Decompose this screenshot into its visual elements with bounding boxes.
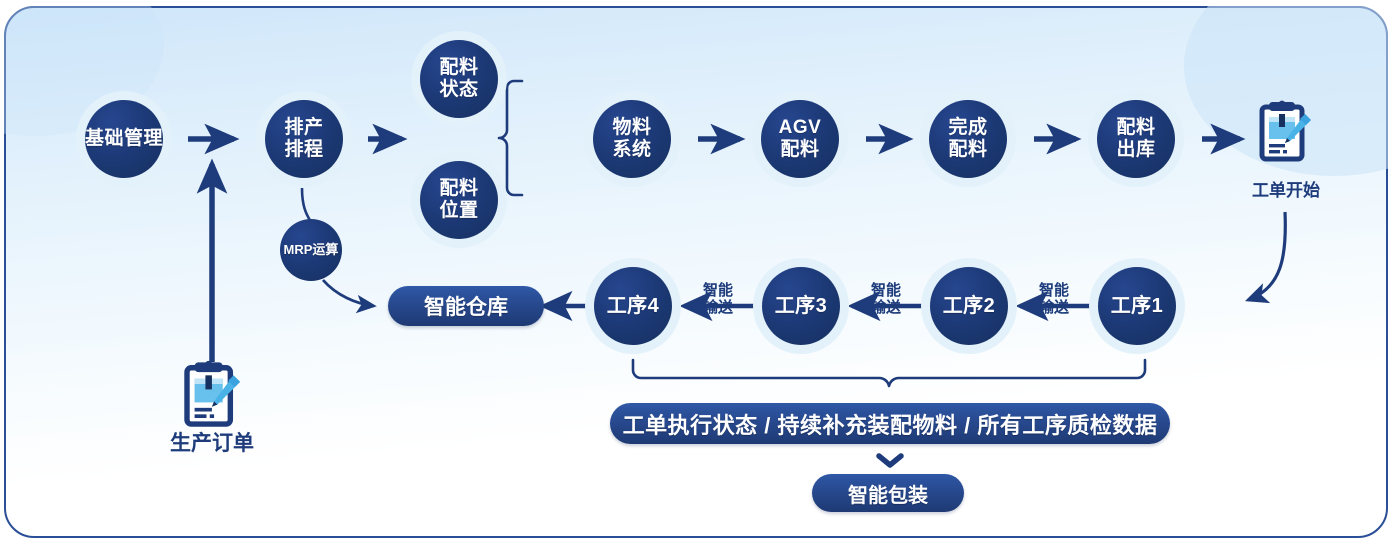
- node-material-status-core: 配料 状态: [420, 40, 498, 118]
- clipboard-pen-icon-production-order: [182, 358, 244, 436]
- node-process-1-label: 工序1: [1111, 295, 1164, 318]
- node-agv-feeding-line-1: AGV: [779, 117, 822, 139]
- node-finish-feeding[interactable]: 完成 配料: [920, 91, 1016, 187]
- node-process-2-label: 工序2: [943, 295, 996, 318]
- node-material-location-line-1: 配料: [439, 178, 478, 200]
- node-process-2[interactable]: 工序2: [921, 258, 1017, 354]
- node-material-location-line-2: 位置: [439, 200, 478, 222]
- node-basic-management-line-1: 基础管理: [85, 128, 163, 150]
- node-process-3[interactable]: 工序3: [753, 258, 849, 354]
- node-finish-feeding-line-2: 配料: [948, 139, 987, 161]
- label-conveyor-2-1-line-1: 智能: [1024, 283, 1084, 300]
- label-conveyor-4-3-line-2: 输送: [688, 300, 748, 317]
- caption-work-order-start: 工单开始: [1238, 176, 1334, 201]
- node-process-3-label: 工序3: [775, 295, 828, 318]
- node-process-4-core: 工序4: [594, 267, 672, 345]
- node-process-1[interactable]: 工序1: [1089, 258, 1185, 354]
- node-production-scheduling-core: 排产 排程: [265, 100, 343, 178]
- node-material-status-line-1: 配料: [439, 57, 478, 79]
- node-process-2-core: 工序2: [930, 267, 1008, 345]
- node-material-system-core: 物料 系统: [593, 100, 671, 178]
- pill-work-order-status-bar-label: 工单执行状态 / 持续补充装配物料 / 所有工序质检数据: [623, 408, 1158, 440]
- node-material-outbound[interactable]: 配料 出库: [1088, 91, 1184, 187]
- node-material-outbound-line-1: 配料: [1116, 117, 1155, 139]
- pill-smart-warehouse-label: 智能仓库: [424, 291, 508, 321]
- node-material-system[interactable]: 物料 系统: [584, 91, 680, 187]
- node-mrp-calculation-core: MRP运算: [280, 219, 342, 281]
- node-production-scheduling-line-2: 排程: [284, 139, 323, 161]
- node-process-1-core: 工序1: [1098, 267, 1176, 345]
- pill-work-order-status-bar[interactable]: 工单执行状态 / 持续补充装配物料 / 所有工序质检数据: [610, 403, 1170, 444]
- node-agv-feeding[interactable]: AGV 配料: [752, 91, 848, 187]
- caption-production-order: 生产订单: [152, 427, 272, 457]
- node-basic-management[interactable]: 基础管理: [76, 91, 172, 187]
- node-material-status[interactable]: 配料 状态: [411, 31, 507, 127]
- node-finish-feeding-core: 完成 配料: [929, 100, 1007, 178]
- label-conveyor-3-2: 智能 输送: [856, 283, 916, 316]
- node-agv-feeding-core: AGV 配料: [761, 100, 839, 178]
- node-agv-feeding-line-2: 配料: [780, 139, 819, 161]
- pill-smart-warehouse[interactable]: 智能仓库: [388, 286, 544, 326]
- chevron-down-icon: [876, 452, 904, 470]
- node-material-location[interactable]: 配料 位置: [411, 152, 507, 248]
- node-mrp-calculation[interactable]: MRP运算: [280, 219, 342, 281]
- pill-smart-packaging-label: 智能包装: [848, 479, 928, 508]
- node-production-scheduling[interactable]: 排产 排程: [256, 91, 352, 187]
- node-finish-feeding-line-1: 完成: [948, 117, 987, 139]
- diagram-canvas: 基础管理 排产 排程 配料 状态 配料 位置 物料 系统 AGV 配料: [0, 0, 1400, 550]
- node-material-outbound-line-2: 出库: [1116, 139, 1155, 161]
- diagram-frame: [4, 6, 1388, 538]
- node-mrp-calculation-label: MRP运算: [284, 243, 339, 258]
- node-process-3-core: 工序3: [762, 267, 840, 345]
- label-conveyor-3-2-line-2: 输送: [856, 300, 916, 317]
- label-conveyor-4-3-line-1: 智能: [688, 283, 748, 300]
- node-basic-management-core: 基础管理: [85, 100, 163, 178]
- node-material-system-line-1: 物料: [612, 117, 651, 139]
- node-process-4-label: 工序4: [607, 295, 660, 318]
- label-conveyor-3-2-line-1: 智能: [856, 283, 916, 300]
- node-process-4[interactable]: 工序4: [585, 258, 681, 354]
- node-production-scheduling-line-1: 排产: [284, 117, 323, 139]
- node-material-system-line-2: 系统: [612, 139, 651, 161]
- label-conveyor-2-1-line-2: 输送: [1024, 300, 1084, 317]
- pill-smart-packaging[interactable]: 智能包装: [812, 474, 964, 512]
- node-material-status-line-2: 状态: [439, 79, 478, 101]
- node-material-outbound-core: 配料 出库: [1097, 100, 1175, 178]
- label-conveyor-2-1: 智能 输送: [1024, 283, 1084, 316]
- label-conveyor-4-3: 智能 输送: [688, 283, 748, 316]
- node-material-location-core: 配料 位置: [420, 161, 498, 239]
- clipboard-pen-icon-work-order-start: [1258, 98, 1314, 170]
